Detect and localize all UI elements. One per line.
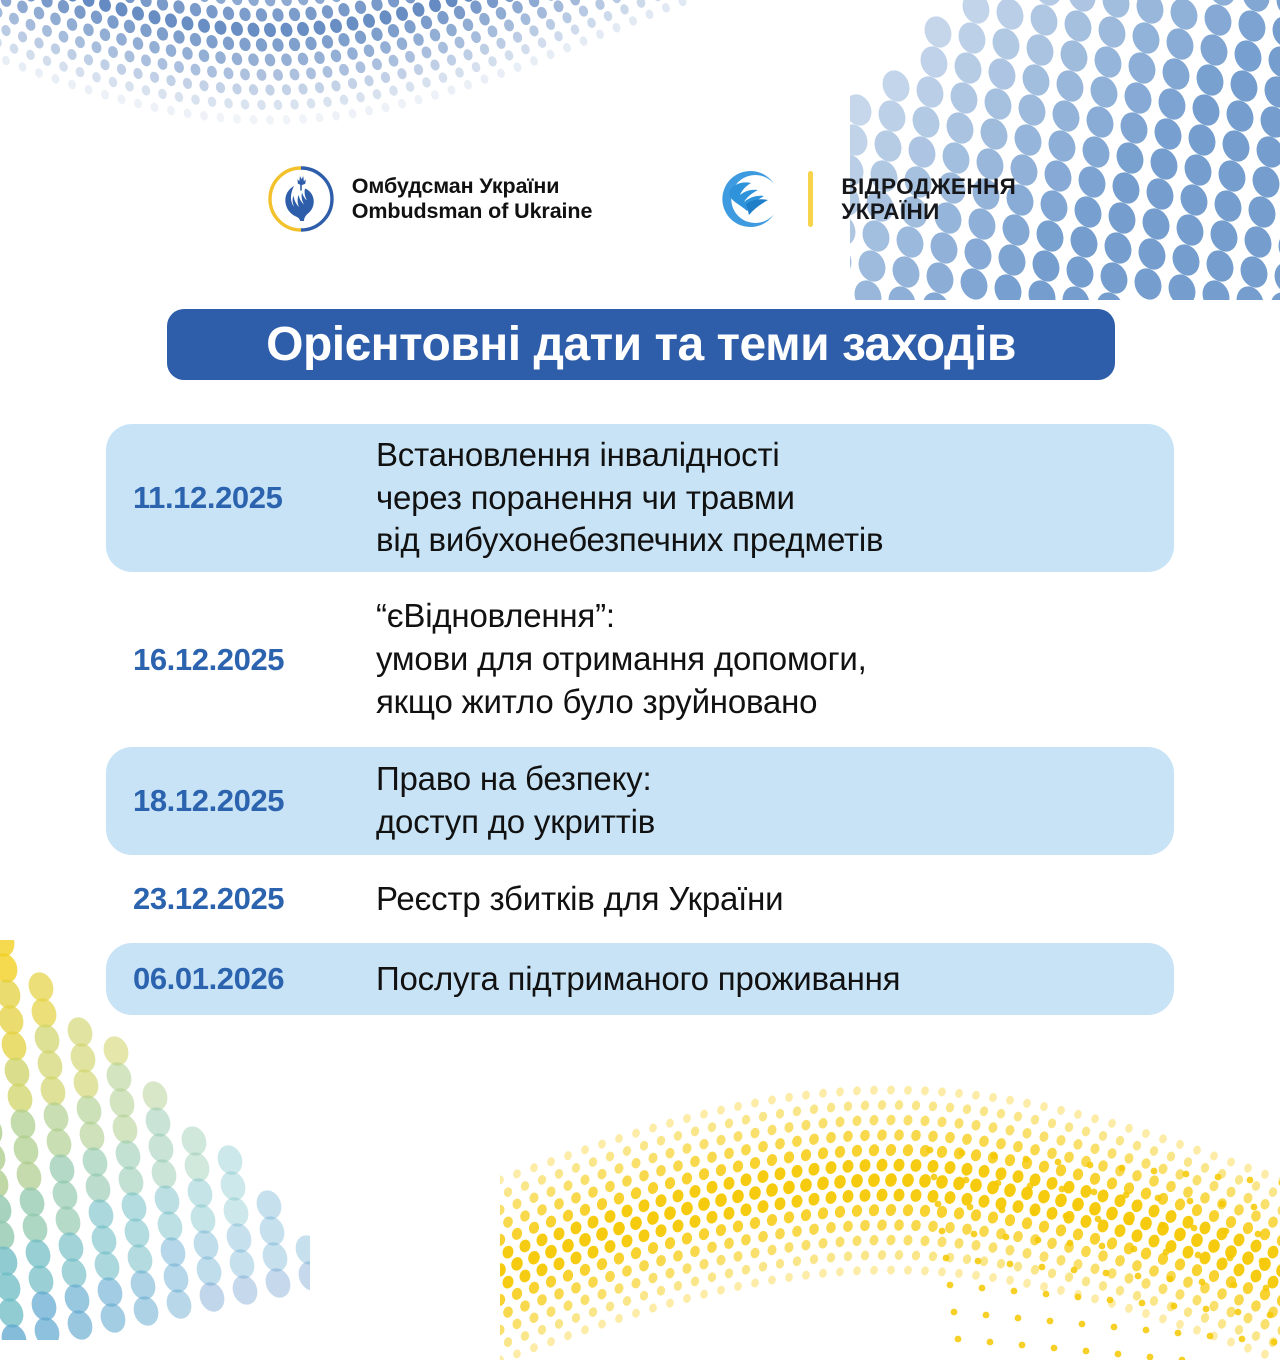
schedule-row: 06.01.2026 Послуга підтриманого проживан… bbox=[106, 943, 1174, 1015]
schedule-row-topic: Право на безпеку: доступ до укриттів bbox=[376, 758, 655, 844]
schedule-row-date: 23.12.2025 bbox=[124, 881, 376, 917]
logo-divider bbox=[808, 171, 813, 227]
ombudsman-label-uk: Омбудсман України bbox=[352, 174, 593, 199]
schedule-row-date: 06.01.2026 bbox=[124, 961, 376, 997]
ombudsman-label-en: Ombudsman of Ukraine bbox=[352, 199, 593, 224]
vidrodzhennya-label-line1: ВІДРОДЖЕННЯ bbox=[841, 174, 1016, 199]
schedule-row-topic: Реєстр збитків для України bbox=[376, 878, 783, 921]
schedule-row-date: 18.12.2025 bbox=[124, 783, 376, 819]
schedule-row-date: 16.12.2025 bbox=[124, 642, 376, 678]
phoenix-bird-circle-logo bbox=[716, 164, 786, 234]
page-title-banner: Орієнтовні дати та теми заходів bbox=[167, 309, 1115, 380]
vidrodzhennya-logo: ВІДРОДЖЕННЯ УКРАЇНИ bbox=[716, 164, 1016, 234]
logo-bar: Омбудсман України Ombudsman of Ukraine В… bbox=[0, 162, 1280, 236]
schedule-row: 18.12.2025 Право на безпеку: доступ до у… bbox=[106, 747, 1174, 855]
ombudsman-logo: Омбудсман України Ombudsman of Ukraine bbox=[264, 162, 593, 236]
decoration-bottom-right-dot-wave bbox=[500, 1030, 1280, 1360]
ombudsman-dove-circle-logo bbox=[264, 162, 338, 236]
page-title: Орієнтовні дати та теми заходів bbox=[266, 321, 1016, 369]
schedule-row: 16.12.2025 “єВідновлення”: умови для отр… bbox=[106, 572, 1174, 747]
decoration-top-right-dot-grid bbox=[850, 0, 1280, 300]
schedule-list: 11.12.2025 Встановлення інвалідності чер… bbox=[0, 424, 1280, 1015]
schedule-row-topic: Встановлення інвалідності через пораненн… bbox=[376, 434, 883, 563]
vidrodzhennya-label-line2: УКРАЇНИ bbox=[841, 199, 1016, 224]
schedule-row-date: 11.12.2025 bbox=[124, 480, 376, 516]
schedule-row-topic: Послуга підтриманого проживання bbox=[376, 958, 900, 1001]
schedule-row: 11.12.2025 Встановлення інвалідності чер… bbox=[106, 424, 1174, 572]
schedule-row-topic: “єВідновлення”: умови для отримання допо… bbox=[376, 595, 867, 724]
schedule-row: 23.12.2025 Реєстр збитків для України bbox=[106, 855, 1174, 943]
